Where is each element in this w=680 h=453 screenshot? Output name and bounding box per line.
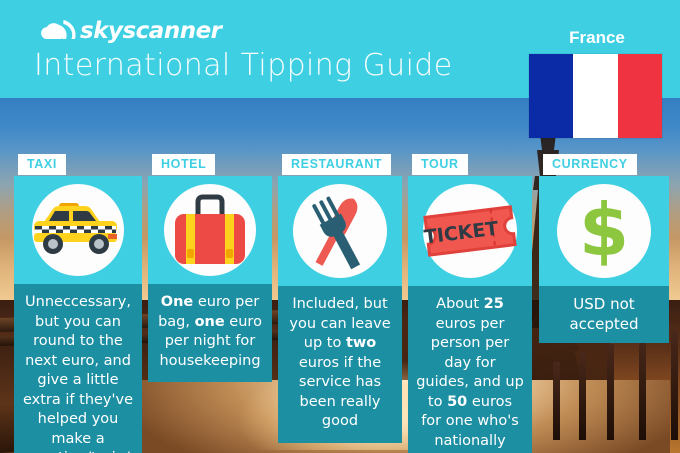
icon-area-currency: $ [539, 176, 669, 286]
brand-name: skyscanner [80, 18, 222, 44]
flag-stripe-blue [529, 54, 573, 138]
card-text-hotel: One euro per bag, one euro per night for… [148, 284, 272, 382]
card-tag-restaurant: RESTAURANT [282, 154, 391, 175]
svg-text:$: $ [579, 191, 629, 271]
page-title: International Tipping Guide [34, 48, 453, 83]
card-text-restaurant: Included, but you can leave up to two eu… [278, 286, 402, 443]
card-tag-taxi: TAXI [18, 154, 66, 175]
knife-fork-icon [297, 188, 383, 274]
country-name: France [517, 28, 677, 48]
flag-stripe-white [573, 54, 617, 138]
taxi-icon [28, 200, 128, 260]
icon-area-restaurant [278, 176, 402, 286]
card-text-currency: USD not accepted [539, 286, 669, 343]
card-tag-hotel: HOTEL [152, 154, 215, 175]
card-taxi: TAXI [14, 176, 142, 453]
bridge-railing-posts [545, 330, 680, 440]
icon-area-hotel [148, 176, 272, 284]
card-text-taxi: Unneccessary, but you can round to the n… [14, 284, 142, 453]
icon-area-tour: TICKET [408, 176, 532, 286]
card-tour: TOUR TICKET About 25 euros per person pe… [408, 176, 532, 453]
card-tag-tour: TOUR [412, 154, 468, 175]
france-flag-icon [529, 54, 662, 138]
card-tag-currency: CURRENCY [543, 154, 637, 175]
card-restaurant: RESTAURANT Included, but you can leave u… [278, 176, 402, 443]
card-currency: CURRENCY $ USD not accepted [539, 176, 669, 343]
card-text-tour: About 25 euros per person per day for gu… [408, 286, 532, 453]
icon-area-taxi [14, 176, 142, 284]
dollar-icon: $ [569, 191, 639, 271]
infographic-root: skyscanner International Tipping Guide F… [0, 0, 680, 453]
ticket-icon: TICKET [415, 196, 525, 266]
flag-stripe-red [618, 54, 662, 138]
card-hotel: HOTEL One euro per bag, one euro per nig… [148, 176, 272, 382]
suitcase-icon [167, 192, 253, 268]
